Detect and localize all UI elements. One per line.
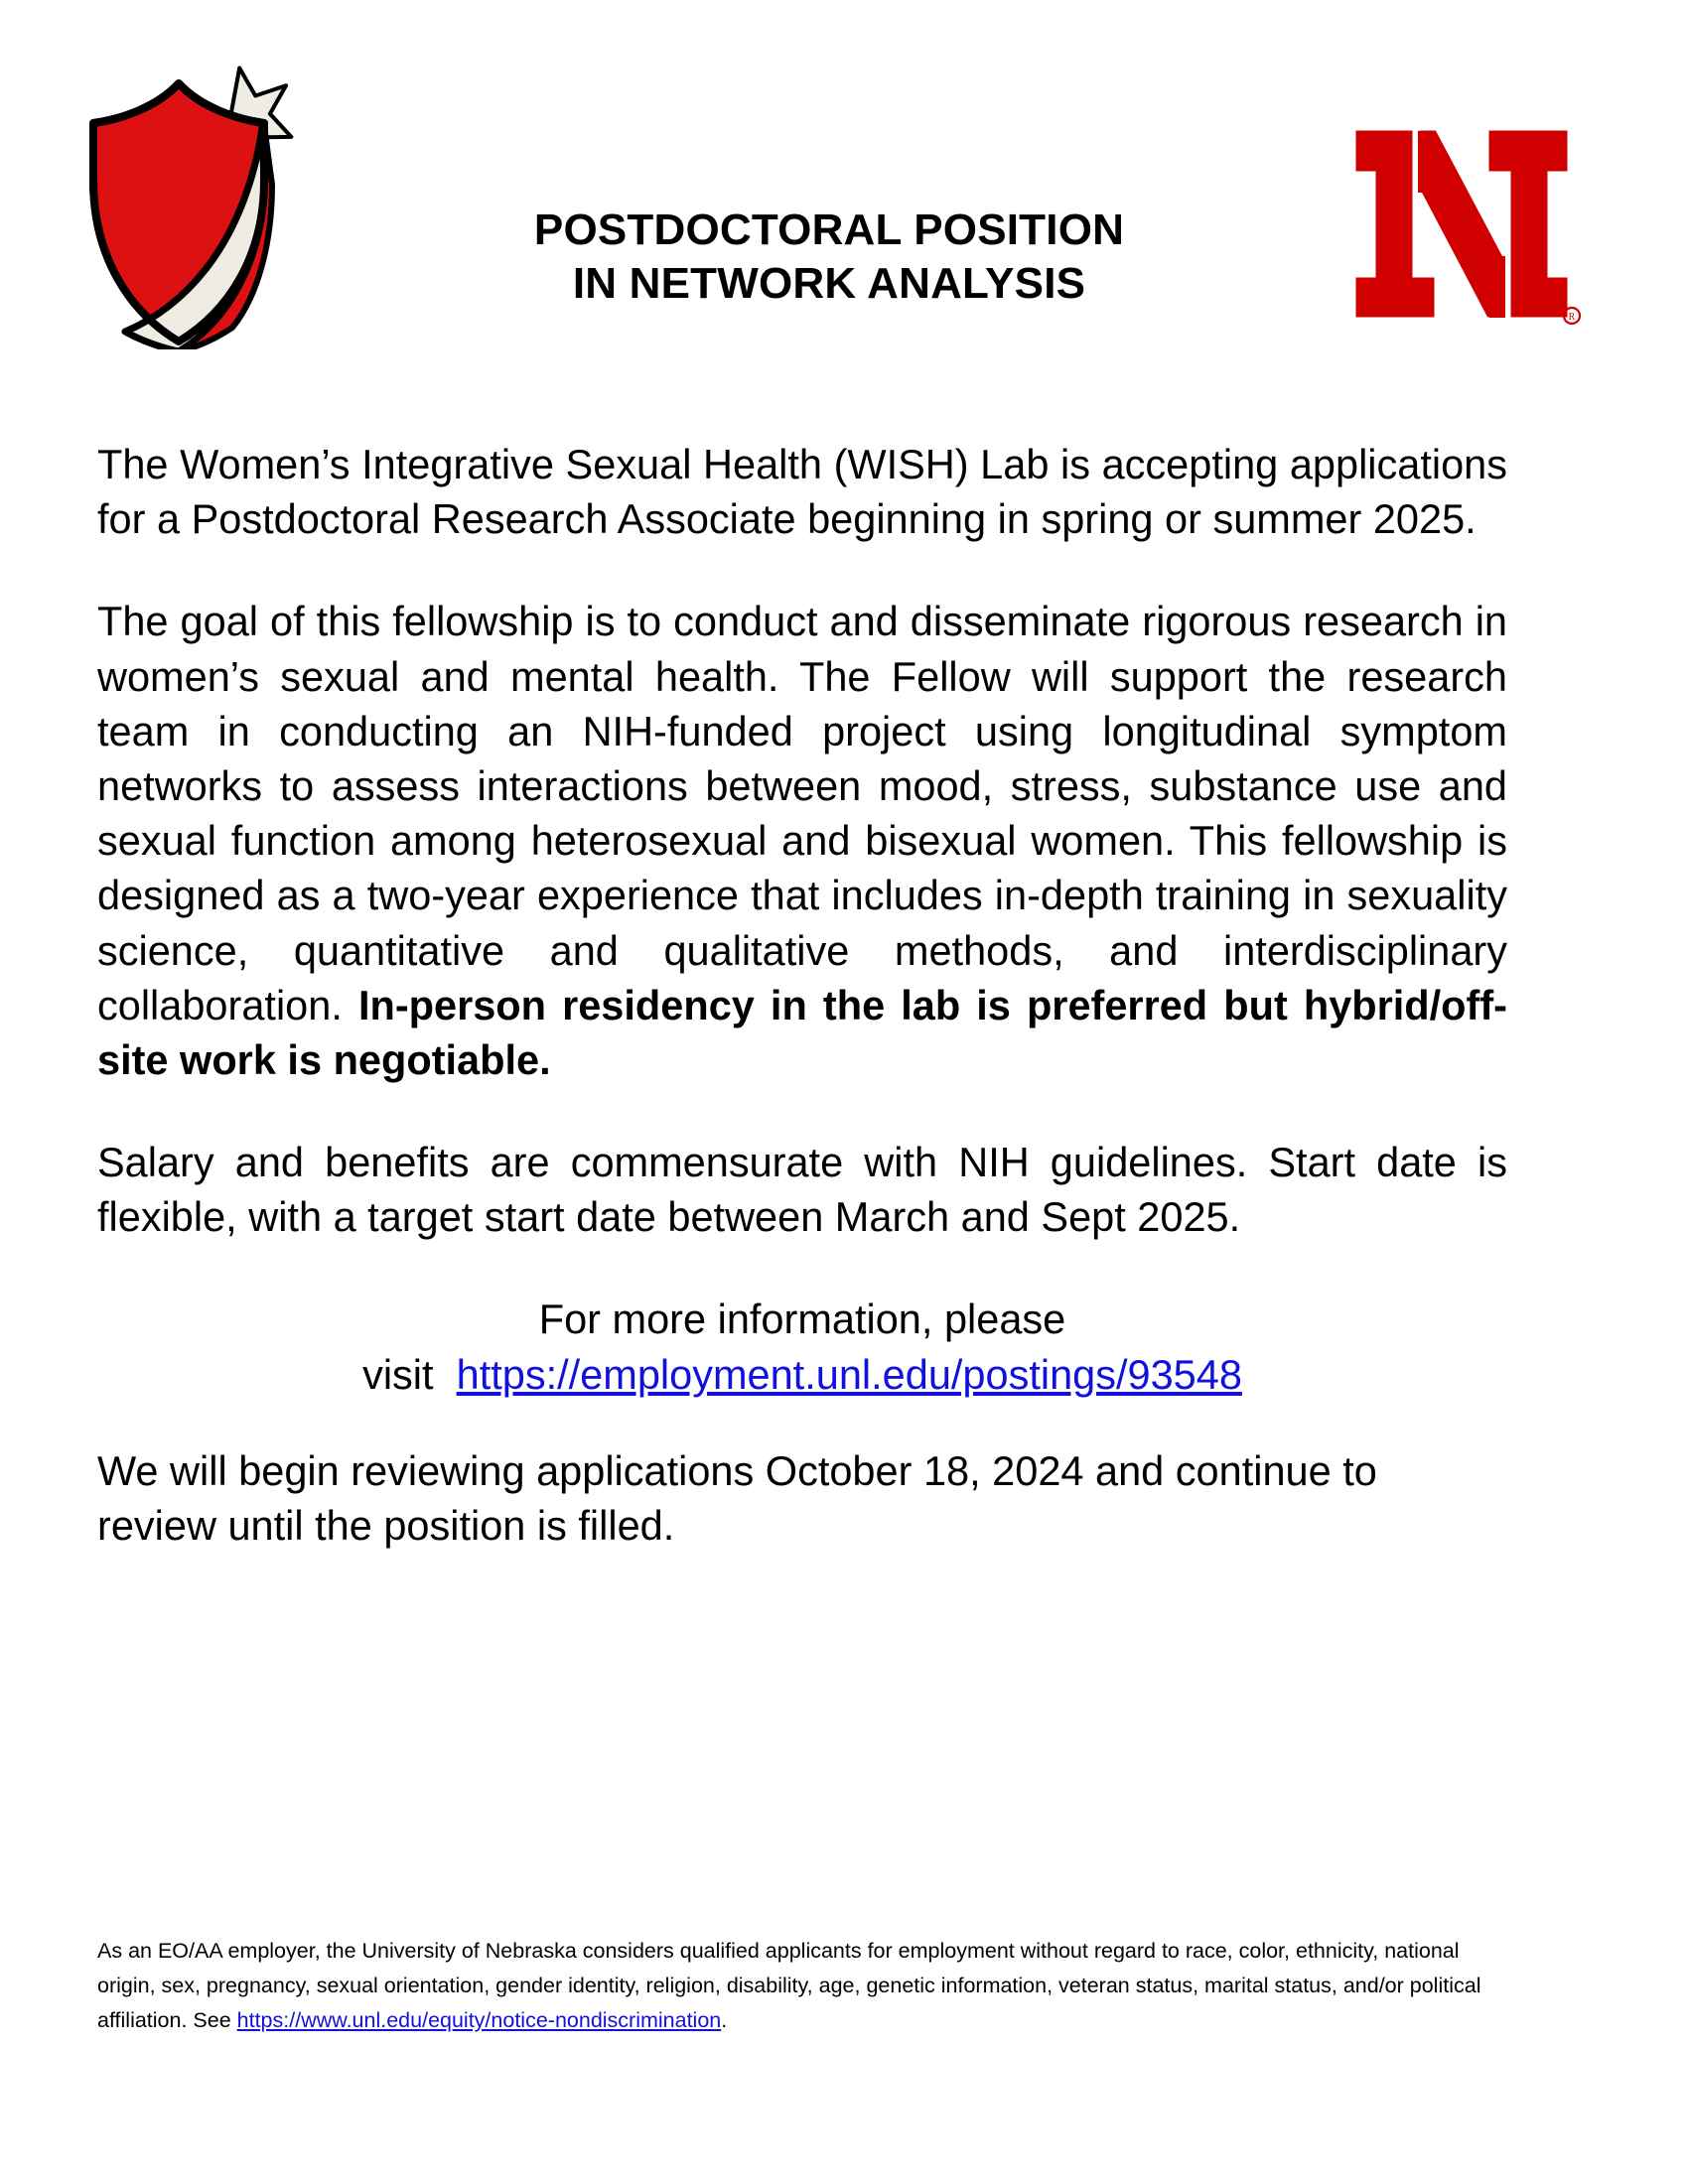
more-information-block: For more information, please visit https… xyxy=(97,1292,1507,1401)
more-information-label: For more information, please xyxy=(97,1292,1507,1346)
employment-posting-link[interactable]: https://employment.unl.edu/postings/9354… xyxy=(457,1351,1242,1398)
title-line-2: IN NETWORK ANALYSIS xyxy=(417,257,1241,311)
flyer-body: The Women’s Integrative Sexual Health (W… xyxy=(97,437,1507,1553)
paragraph-fellowship-goal: The goal of this fellowship is to conduc… xyxy=(97,594,1507,1087)
wish-lab-shield-logo xyxy=(87,62,336,349)
paragraph-intro: The Women’s Integrative Sexual Health (W… xyxy=(97,437,1507,546)
nebraska-n-logo: R xyxy=(1342,117,1581,331)
svg-text:R: R xyxy=(1569,312,1576,323)
visit-label: visit xyxy=(362,1351,433,1398)
nondiscrimination-notice-link[interactable]: https://www.unl.edu/equity/notice-nondis… xyxy=(237,2008,722,2032)
husker-n-glyph xyxy=(1352,127,1571,321)
page-title: POSTDOCTORAL POSITION IN NETWORK ANALYSI… xyxy=(417,204,1241,310)
paragraph-salary: Salary and benefits are commensurate wit… xyxy=(97,1135,1507,1244)
flyer-page: POSTDOCTORAL POSITION IN NETWORK ANALYSI… xyxy=(0,0,1688,2184)
title-line-1: POSTDOCTORAL POSITION xyxy=(417,204,1241,257)
disclaimer-period: . xyxy=(721,2008,727,2032)
eo-aa-disclaimer: As an EO/AA employer, the University of … xyxy=(97,1934,1517,2037)
paragraph-review-timeline: We will begin reviewing applications Oct… xyxy=(97,1443,1507,1553)
flyer-header: POSTDOCTORAL POSITION IN NETWORK ANALYSI… xyxy=(0,0,1688,357)
paragraph-fellowship-goal-text: The goal of this fellowship is to conduc… xyxy=(97,598,1507,1027)
visit-line: visit https://employment.unl.edu/posting… xyxy=(97,1347,1507,1402)
